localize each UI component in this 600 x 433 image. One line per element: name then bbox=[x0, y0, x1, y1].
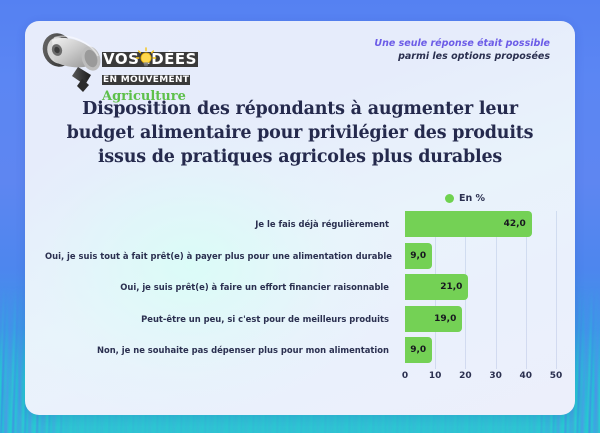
chart-bar-value: 9,0 bbox=[402, 243, 426, 269]
infographic-card: VOS IDÉES EN MOUVEMENT Agriculture Une s… bbox=[25, 21, 575, 415]
chart-x-tick: 30 bbox=[489, 371, 502, 381]
brand-logo: VOS IDÉES EN MOUVEMENT Agriculture bbox=[42, 27, 217, 107]
chart-category-label: Oui, je suis prêt(e) à faire un effort f… bbox=[45, 274, 397, 300]
chart-bar-value: 42,0 bbox=[502, 211, 526, 237]
chart-category-label: Oui, je suis tout à fait prêt(e) à payer… bbox=[45, 243, 397, 269]
bar-chart: Je le fais déjà régulièrement42,0Oui, je… bbox=[45, 211, 560, 391]
chart-row: Oui, je suis tout à fait prêt(e) à payer… bbox=[45, 243, 560, 269]
chart-bar-value: 19,0 bbox=[432, 306, 456, 332]
survey-note-line-2: parmi les options proposées bbox=[374, 50, 550, 63]
page-title: Disposition des répondants à augmenter l… bbox=[53, 97, 547, 169]
legend-swatch-icon bbox=[445, 194, 454, 203]
chart-row: Je le fais déjà régulièrement42,0 bbox=[45, 211, 560, 237]
brand-line-2: EN MOUVEMENT bbox=[102, 75, 190, 85]
survey-note-line-1: Une seule réponse était possible bbox=[374, 37, 550, 50]
chart-x-tick: 50 bbox=[550, 371, 563, 381]
chart-row: Oui, je suis prêt(e) à faire un effort f… bbox=[45, 274, 560, 300]
chart-x-tick: 10 bbox=[429, 371, 442, 381]
chart-row: Non, je ne souhaite pas dépenser plus po… bbox=[45, 337, 560, 363]
chart-bar-value: 21,0 bbox=[438, 274, 462, 300]
chart-category-label: Peut-être un peu, si c'est pour de meill… bbox=[45, 306, 397, 332]
chart-x-tick: 20 bbox=[459, 371, 472, 381]
chart-legend: En % bbox=[445, 193, 485, 204]
legend-label: En % bbox=[459, 193, 485, 204]
chart-row: Peut-être un peu, si c'est pour de meill… bbox=[45, 306, 560, 332]
survey-note: Une seule réponse était possible parmi l… bbox=[374, 37, 550, 63]
chart-plot-area bbox=[405, 211, 556, 391]
lightbulb-icon bbox=[135, 47, 157, 69]
chart-x-tick: 40 bbox=[520, 371, 533, 381]
chart-category-label: Je le fais déjà régulièrement bbox=[45, 211, 397, 237]
chart-bar-value: 9,0 bbox=[402, 337, 426, 363]
chart-category-label: Non, je ne souhaite pas dépenser plus po… bbox=[45, 337, 397, 363]
chart-x-tick: 0 bbox=[402, 371, 408, 381]
chart-x-axis: 01020304050 bbox=[405, 371, 556, 389]
